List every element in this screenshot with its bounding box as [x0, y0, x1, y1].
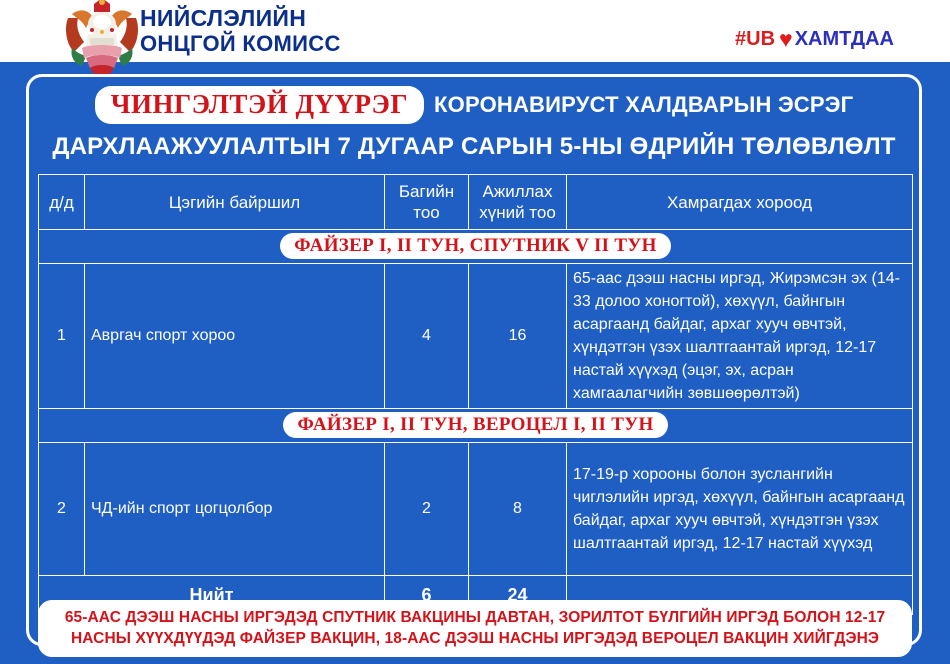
city-emblem-icon [62, 0, 142, 74]
section-banner-label: ФАЙЗЕР I, II ТУН, ВЕРОЦЕЛ I, II ТУН [283, 412, 667, 438]
title-line-1: ЧИНГЭЛТЭЙ ДҮҮРЭГ КОРОНАВИРУСТ ХАЛДВАРЫН … [26, 86, 922, 124]
heart-icon: ♥ [779, 28, 793, 51]
header-teams: Багийн тоо [385, 175, 469, 230]
table-header-row: д/д Цэгийн байршил Багийн тоо Ажиллах хү… [39, 175, 913, 230]
title-line-2: ДАРХЛААЖУУЛАЛТЫН 7 ДУГААР САРЫН 5-НЫ ӨДР… [26, 133, 922, 161]
org-name-line1: НИЙСЛЭЛИЙН [140, 6, 341, 31]
header-coverage: Хамрагдах хороод [567, 175, 913, 230]
hashtag-ub-text: #UB [735, 28, 775, 51]
header-teams-line2: тоо [413, 203, 440, 222]
header-staff-line2: хүний тоо [479, 203, 556, 222]
page-title: ЧИНГЭЛТЭЙ ДҮҮРЭГ КОРОНАВИРУСТ ХАЛДВАРЫН … [26, 86, 922, 161]
organization-name: НИЙСЛЭЛИЙН ОНЦГОЙ КОМИСС [140, 6, 341, 56]
cell-location: Авргач спорт хороо [85, 264, 385, 409]
cell-coverage: 17-19-р хорооны болон зуслангийн чиглэли… [567, 443, 913, 576]
section-banner-row: ФАЙЗЕР I, II ТУН, СПУТНИК V II ТУН [39, 230, 913, 264]
cell-staff: 8 [469, 443, 567, 576]
district-name-badge: ЧИНГЭЛТЭЙ ДҮҮРЭГ [95, 86, 424, 124]
cell-teams: 4 [385, 264, 469, 409]
footer-line-1: 65-ААС ДЭЭШ НАСНЫ ИРГЭДЭД СПУТНИК ВАКЦИН… [48, 607, 902, 628]
vaccination-plan-table: д/д Цэгийн байршил Багийн тоо Ажиллах хү… [38, 174, 913, 615]
title-subject: КОРОНАВИРУСТ ХАЛДВАРЫН ЭСРЭГ [434, 92, 853, 118]
header-no: д/д [39, 175, 85, 230]
header-staff-line1: Ажиллах [482, 182, 552, 201]
hashtag-badge: #UB ♥ ХАМТДАА [725, 26, 904, 54]
cell-coverage: 65-аас дээш насны иргэд, Жирэмсэн эх (14… [567, 264, 913, 409]
footer-note: 65-ААС ДЭЭШ НАСНЫ ИРГЭДЭД СПУТНИК ВАКЦИН… [38, 600, 912, 657]
header-teams-line1: Багийн [399, 182, 454, 201]
section-banner-row: ФАЙЗЕР I, II ТУН, ВЕРОЦЕЛ I, II ТУН [39, 409, 913, 443]
header-location: Цэгийн байршил [85, 175, 385, 230]
cell-staff: 16 [469, 264, 567, 409]
cell-teams: 2 [385, 443, 469, 576]
section-banner-cell: ФАЙЗЕР I, II ТУН, СПУТНИК V II ТУН [39, 230, 913, 264]
table-row: 2 ЧД-ийн спорт цогцолбор 2 8 17-19-р хор… [39, 443, 913, 576]
section-banner-cell: ФАЙЗЕР I, II ТУН, ВЕРОЦЕЛ I, II ТУН [39, 409, 913, 443]
cell-no: 2 [39, 443, 85, 576]
section-banner-label: ФАЙЗЕР I, II ТУН, СПУТНИК V II ТУН [280, 233, 670, 259]
cell-location: ЧД-ийн спорт цогцолбор [85, 443, 385, 576]
header-staff: Ажиллах хүний тоо [469, 175, 567, 230]
hashtag-label: ХАМТДАА [795, 28, 894, 51]
footer-line-2: НАСНЫ ХҮҮХДҮҮДЭД ФАЙЗЕР ВАКЦИН, 18-ААС Д… [48, 628, 902, 649]
table-row: 1 Авргач спорт хороо 4 16 65-аас дээш на… [39, 264, 913, 409]
org-name-line2: ОНЦГОЙ КОМИСС [140, 31, 341, 56]
cell-no: 1 [39, 264, 85, 409]
